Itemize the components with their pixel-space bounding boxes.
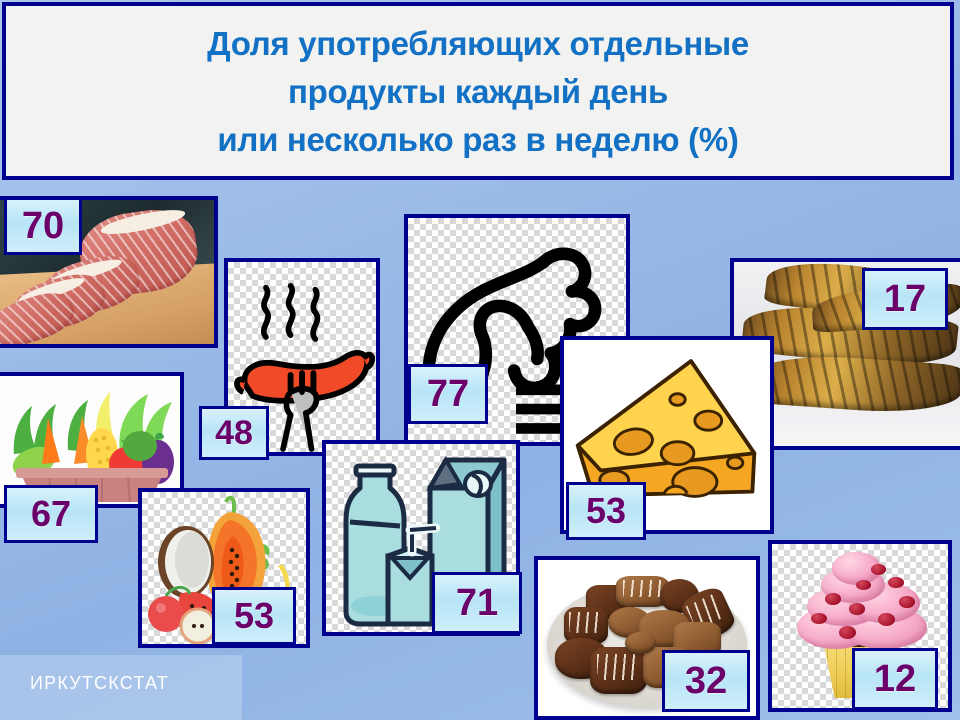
footer-label: ИРКУТСКСТАТ [30, 673, 169, 694]
badge-chocolate: 32 [662, 650, 750, 712]
badge-value-meat: 70 [22, 205, 64, 248]
badge-sausage: 48 [199, 406, 269, 460]
infographic-slide: Доля употребляющих отдельные продукты ка… [0, 0, 960, 720]
badge-vegetables: 67 [4, 485, 98, 543]
badge-value-vegetables: 67 [31, 493, 71, 535]
badge-value-fruits: 53 [234, 595, 274, 637]
title-box: Доля употребляющих отдельные продукты ка… [2, 2, 954, 180]
badge-value-cupcake: 12 [874, 658, 916, 701]
title-line-1: Доля употребляющих отдельные [207, 20, 749, 68]
badge-poultry: 77 [408, 364, 488, 424]
badge-meat: 70 [4, 197, 82, 255]
badge-cheese: 53 [566, 482, 646, 540]
badge-cupcake: 12 [852, 648, 938, 710]
title-line-2: продукты каждый день [288, 68, 668, 116]
badge-fruits: 53 [212, 587, 296, 645]
badge-milk: 71 [432, 572, 522, 634]
badge-value-poultry: 77 [427, 373, 469, 416]
footer-bar: ИРКУТСКСТАТ [0, 655, 242, 720]
badge-value-cheese: 53 [586, 490, 626, 532]
title-line-3: или несколько раз в неделю (%) [217, 116, 738, 164]
badge-value-milk: 71 [456, 582, 498, 625]
badge-value-fish: 17 [884, 278, 926, 321]
badge-fish: 17 [862, 268, 948, 330]
badge-value-chocolate: 32 [685, 660, 727, 703]
badge-value-sausage: 48 [215, 414, 253, 453]
